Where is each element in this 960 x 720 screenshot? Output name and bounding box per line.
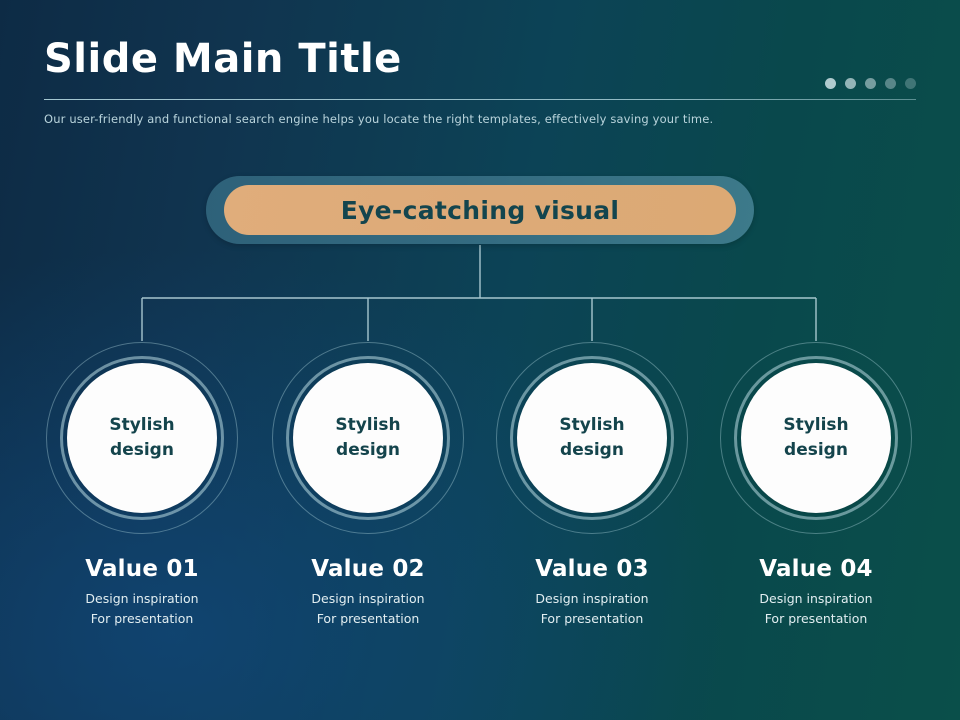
node-2-label-line2: design <box>336 438 400 463</box>
node-3[interactable]: Stylish design Value 03 Design inspirati… <box>496 342 688 534</box>
node-3-desc-line1: Design inspiration <box>496 589 688 609</box>
progress-dot-2 <box>845 78 856 89</box>
progress-dot-1 <box>825 78 836 89</box>
node-1-circle[interactable]: Stylish design <box>46 342 238 534</box>
node-3-label-line1: Stylish <box>559 413 624 438</box>
eye-catching-visual-banner[interactable]: Eye-catching visual <box>206 176 754 244</box>
node-3-label-line2: design <box>560 438 624 463</box>
node-2[interactable]: Stylish design Value 02 Design inspirati… <box>272 342 464 534</box>
node-2-value: Value 02 <box>272 556 464 582</box>
slide-progress-dots <box>825 78 916 89</box>
node-4-disc: Stylish design <box>741 363 891 513</box>
node-2-desc-line1: Design inspiration <box>272 589 464 609</box>
progress-dot-4 <box>885 78 896 89</box>
node-4-caption: Value 04 Design inspiration For presenta… <box>720 556 912 630</box>
node-1-value: Value 01 <box>46 556 238 582</box>
node-1-desc-line1: Design inspiration <box>46 589 238 609</box>
node-1-disc: Stylish design <box>67 363 217 513</box>
page-title: Slide Main Title <box>44 38 402 80</box>
progress-dot-5 <box>905 78 916 89</box>
node-1-caption: Value 01 Design inspiration For presenta… <box>46 556 238 630</box>
node-2-caption: Value 02 Design inspiration For presenta… <box>272 556 464 630</box>
banner-inner-pill: Eye-catching visual <box>224 185 736 235</box>
node-3-caption: Value 03 Design inspiration For presenta… <box>496 556 688 630</box>
node-3-disc: Stylish design <box>517 363 667 513</box>
node-3-value: Value 03 <box>496 556 688 582</box>
slide-canvas: Slide Main Title Our user-friendly and f… <box>0 0 960 720</box>
node-2-disc: Stylish design <box>293 363 443 513</box>
node-4-value: Value 04 <box>720 556 912 582</box>
node-4[interactable]: Stylish design Value 04 Design inspirati… <box>720 342 912 534</box>
title-divider <box>44 99 916 100</box>
node-1[interactable]: Stylish design Value 01 Design inspirati… <box>46 342 238 534</box>
node-4-desc-line1: Design inspiration <box>720 589 912 609</box>
node-1-label-line2: design <box>110 438 174 463</box>
node-3-desc-line2: For presentation <box>496 609 688 629</box>
node-4-desc-line2: For presentation <box>720 609 912 629</box>
node-2-circle[interactable]: Stylish design <box>272 342 464 534</box>
node-4-circle[interactable]: Stylish design <box>720 342 912 534</box>
node-2-desc-line2: For presentation <box>272 609 464 629</box>
node-4-label-line2: design <box>784 438 848 463</box>
node-1-desc-line2: For presentation <box>46 609 238 629</box>
node-1-label-line1: Stylish <box>109 413 174 438</box>
progress-dot-3 <box>865 78 876 89</box>
banner-label: Eye-catching visual <box>341 196 620 225</box>
page-subtitle: Our user-friendly and functional search … <box>44 112 713 126</box>
node-4-label-line1: Stylish <box>783 413 848 438</box>
node-3-circle[interactable]: Stylish design <box>496 342 688 534</box>
node-2-label-line1: Stylish <box>335 413 400 438</box>
